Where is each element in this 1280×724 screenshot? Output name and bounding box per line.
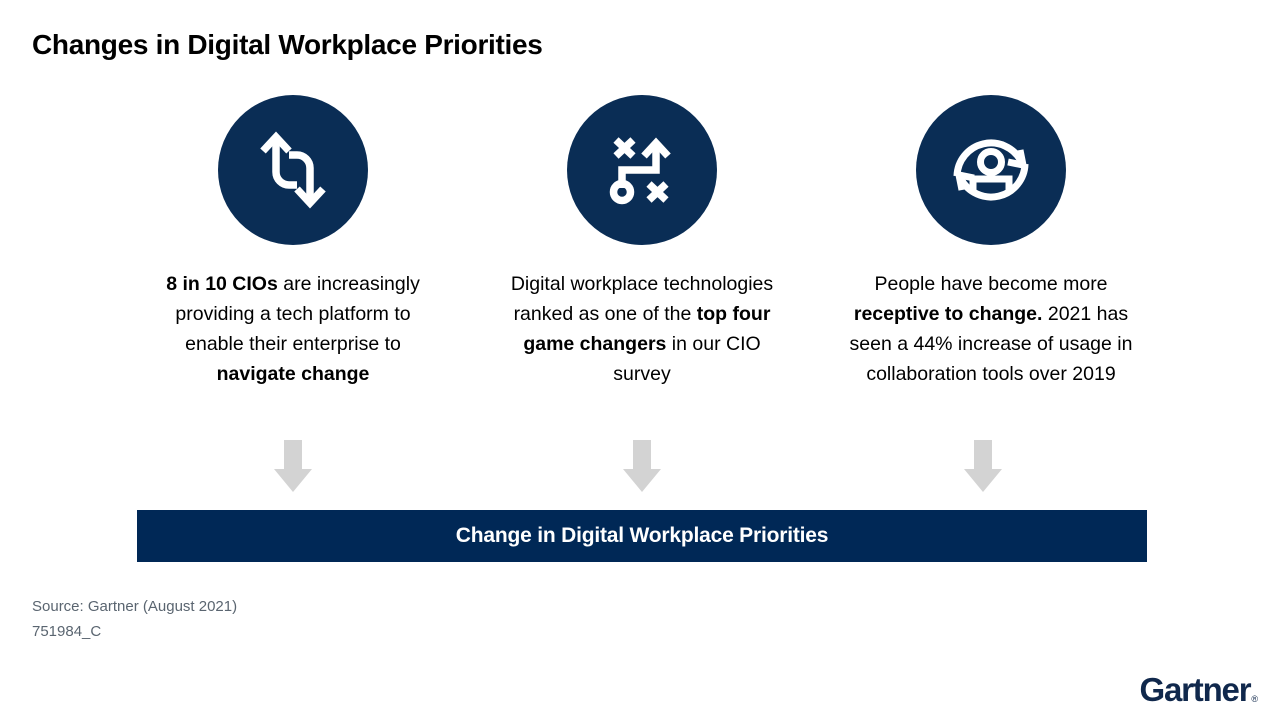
icon-circle-2 <box>567 95 717 245</box>
columns-container: 8 in 10 CIOs are increasingly providing … <box>0 95 1280 389</box>
column-3: People have become more receptive to cha… <box>821 95 1161 389</box>
strategy-playbook-icon <box>602 130 682 210</box>
column-1-text: 8 in 10 CIOs are increasingly providing … <box>148 269 438 389</box>
swap-arrows-icon <box>254 124 332 216</box>
document-id: 751984_C <box>32 619 237 644</box>
icon-circle-1 <box>218 95 368 245</box>
page-title: Changes in Digital Workplace Priorities <box>32 29 543 61</box>
emphasis-text: navigate change <box>217 363 370 385</box>
footer: Source: Gartner (August 2021) 751984_C <box>32 594 237 644</box>
down-arrow-2-icon <box>623 440 661 492</box>
gartner-logo: Gartner ® <box>1140 673 1258 706</box>
gartner-logo-wordmark: Gartner <box>1140 673 1251 706</box>
down-arrow-1-icon <box>274 440 312 492</box>
emphasis-text: receptive to change. <box>854 303 1043 325</box>
registered-trademark-icon: ® <box>1251 694 1258 704</box>
outcome-banner-label: Change in Digital Workplace Priorities <box>456 524 828 548</box>
body-text: People have become more <box>874 273 1107 295</box>
icon-circle-3 <box>916 95 1066 245</box>
column-2-text: Digital workplace technologies ranked as… <box>503 269 781 389</box>
down-arrow-3-icon <box>964 440 1002 492</box>
column-1: 8 in 10 CIOs are increasingly providing … <box>123 95 463 389</box>
arrows-container <box>0 440 1280 492</box>
emphasis-text: 8 in 10 CIOs <box>166 273 278 295</box>
column-2: Digital workplace technologies ranked as… <box>472 95 812 389</box>
person-cycle-icon <box>945 126 1037 214</box>
column-3-text: People have become more receptive to cha… <box>831 269 1151 389</box>
source-note: Source: Gartner (August 2021) <box>32 594 237 619</box>
outcome-banner: Change in Digital Workplace Priorities <box>137 510 1147 562</box>
